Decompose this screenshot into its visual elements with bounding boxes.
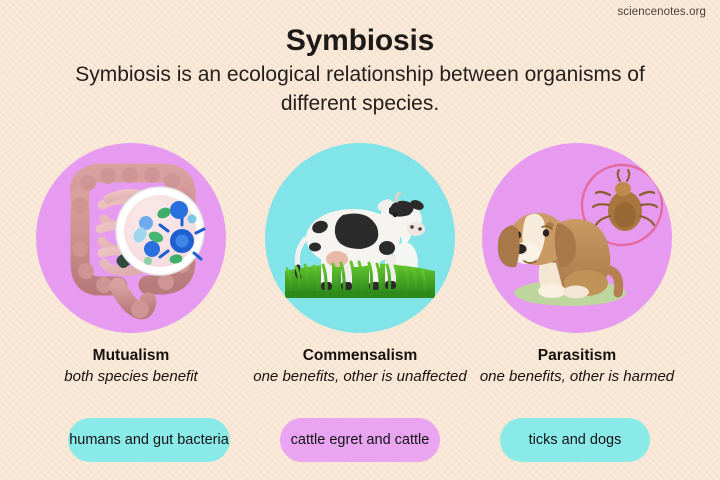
infographic-stage: sciencenotes.org Symbiosis Symbiosis is … (0, 0, 720, 480)
example-pill-commensalism: cattle egret and cattle (280, 418, 440, 462)
cow-and-egret-icon (265, 143, 455, 333)
illustration-circle-mutualism (36, 143, 226, 333)
illustration-circle-commensalism (265, 143, 455, 333)
tick-shape (593, 170, 657, 231)
page-subtitle: Symbiosis is an ecological relationship … (60, 60, 660, 118)
definition-text-parasitism: one benefits, other is harmed (470, 367, 684, 386)
symbiosis-column-commensalism: Commensalism one benefits, other is unaf… (253, 143, 467, 386)
term-label-parasitism: Parasitism (470, 347, 684, 365)
intestines-magnifier-icon (36, 143, 226, 333)
symbiosis-column-mutualism: Mutualism both species benefit (24, 143, 238, 386)
illustration-circle-parasitism (482, 143, 672, 333)
term-label-mutualism: Mutualism (24, 347, 238, 365)
definition-text-mutualism: both species benefit (24, 367, 238, 386)
page-title: Symbiosis (0, 24, 720, 58)
symbiosis-column-parasitism: Parasitism one benefits, other is harmed (470, 143, 684, 386)
example-pill-parasitism: ticks and dogs (500, 418, 650, 462)
puppy-shape (498, 213, 619, 299)
definition-text-commensalism: one benefits, other is unaffected (253, 367, 467, 386)
puppy-with-tick-bubble-icon (482, 143, 672, 333)
watermark-sciencenotes: sciencenotes.org (617, 6, 706, 18)
example-pill-mutualism: humans and gut bacteria (68, 418, 230, 462)
term-label-commensalism: Commensalism (253, 347, 467, 365)
